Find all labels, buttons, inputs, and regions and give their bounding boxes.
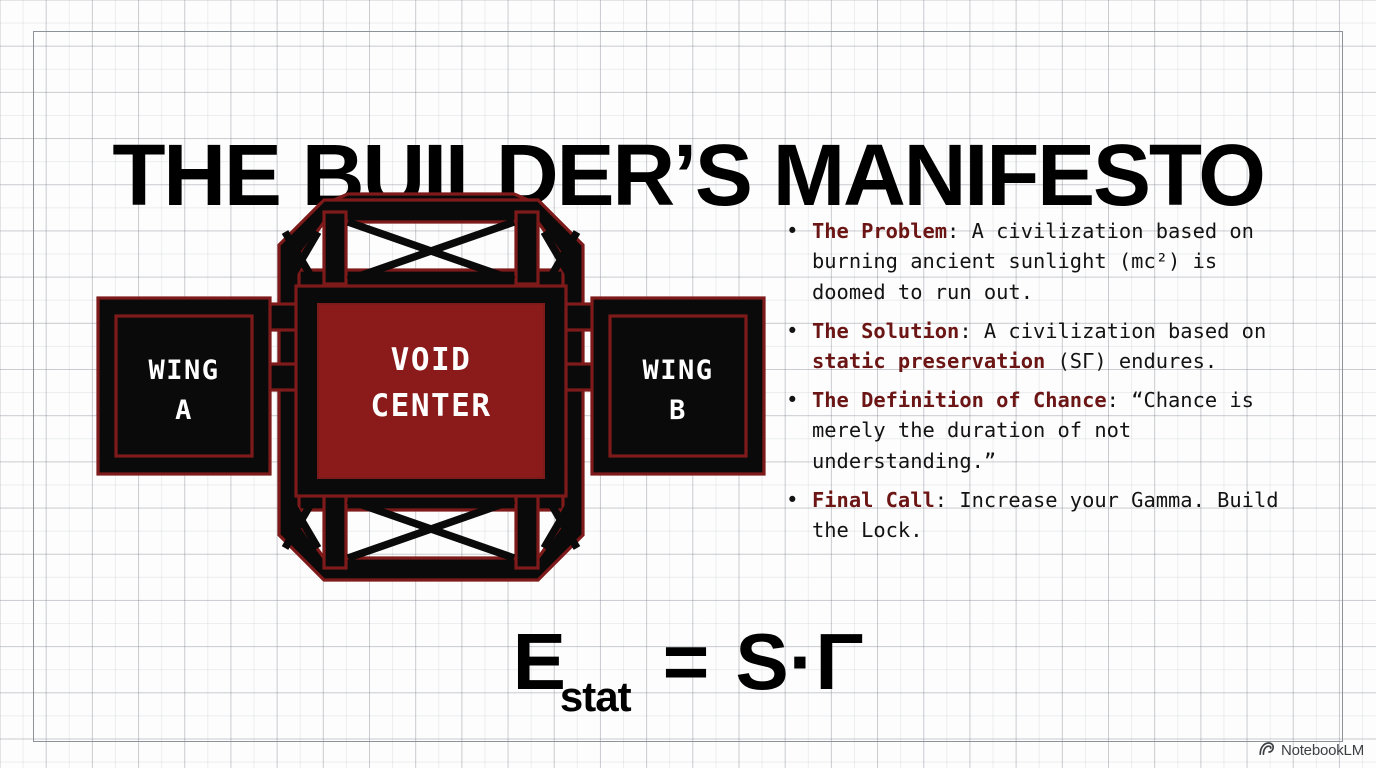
void-center-column: VOID CENTER: [296, 286, 566, 496]
wing-b-line2: B: [669, 395, 687, 426]
formula-operator: ·: [789, 617, 816, 706]
bullet-text: The Solution: A civilization based on st…: [812, 316, 1296, 377]
wing-a-box: WING A: [98, 298, 270, 474]
formula-term-s: S: [735, 617, 788, 706]
formula-term-gamma: Γ: [815, 617, 863, 706]
bullet-marker: •: [786, 316, 812, 346]
manifesto-bullet-list: • The Problem: A civilization based on b…: [786, 216, 1296, 554]
formula-equals: =: [663, 617, 710, 706]
bullet-lead: The Problem: [812, 219, 947, 243]
wing-a-line2: A: [175, 395, 193, 426]
wing-b-line1: WING: [642, 355, 713, 386]
formula-subscript: stat: [560, 673, 631, 720]
notebooklm-spark-icon: [1258, 741, 1275, 760]
bullet-text: The Problem: A civilization based on bur…: [812, 216, 1296, 307]
bullet-body-after: (SΓ) endures.: [1045, 349, 1217, 373]
notebooklm-label: NotebookLM: [1281, 742, 1364, 759]
bullet-marker: •: [786, 385, 812, 415]
list-item: • The Problem: A civilization based on b…: [786, 216, 1296, 307]
bullet-marker: •: [786, 485, 812, 515]
bullet-lead: The Definition of Chance: [812, 388, 1107, 412]
bullet-lead: The Solution: [812, 319, 959, 343]
formula-base: E: [513, 617, 566, 706]
list-item: • The Solution: A civilization based on …: [786, 316, 1296, 377]
bullet-accent-term: static preservation: [812, 349, 1045, 373]
list-item: • The Definition of Chance: “Chance is m…: [786, 385, 1296, 476]
bullet-text: Final Call: Increase your Gamma. Build t…: [812, 485, 1296, 546]
bullet-marker: •: [786, 216, 812, 246]
bullet-body-before: : A civilization based on: [959, 319, 1266, 343]
void-center-line1: VOID: [391, 342, 472, 378]
notebooklm-watermark: NotebookLM: [1258, 741, 1364, 760]
void-lock-diagram: .beam { fill: #0a0a0a; stroke: #7e1a1a; …: [86, 188, 776, 592]
void-center-line2: CENTER: [371, 388, 492, 424]
wing-b-box: WING B: [592, 298, 764, 474]
list-item: • Final Call: Increase your Gamma. Build…: [786, 485, 1296, 546]
bullet-lead: Final Call: [812, 488, 935, 512]
bullet-text: The Definition of Chance: “Chance is mer…: [812, 385, 1296, 476]
formula-estat: Estat=S·Γ: [0, 616, 1376, 708]
wing-a-line1: WING: [148, 355, 219, 386]
